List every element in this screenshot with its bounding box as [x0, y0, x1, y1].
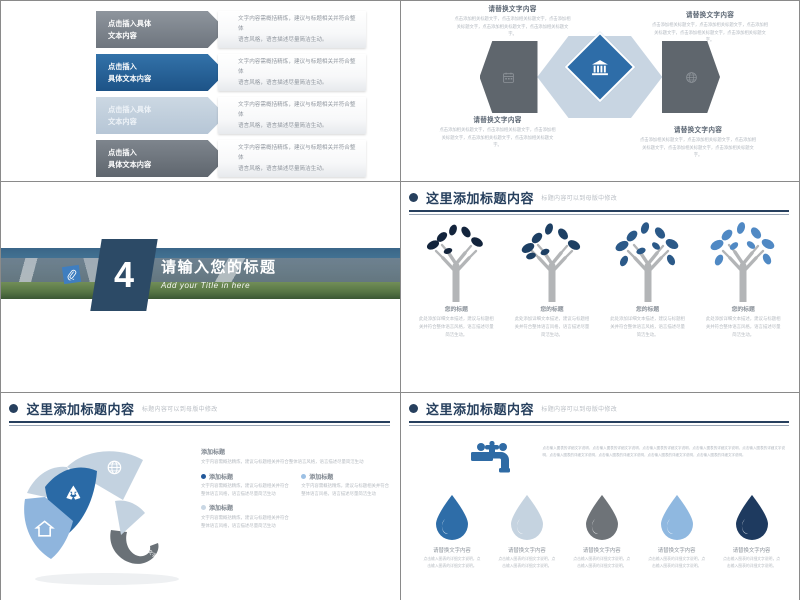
page-title: 这里添加标题内容 — [426, 402, 534, 417]
divider-primary — [9, 421, 390, 423]
arrow-label: 点击插入具体 文本内容 — [96, 104, 151, 126]
drop-body: 点击输入图表的详细文字说明，点击输入图表的详细文字说明。 — [422, 556, 482, 570]
umbrella-text-group: 添加标题 文字内容需概括精炼，建议与标题相关并符合整体语言风格，语言描述尽量简洁… — [201, 447, 392, 530]
chevron-label-heading: 请替换文字内容 — [439, 114, 557, 124]
section-title-group: 请输入您的标题 Add your Title in here — [161, 256, 277, 290]
calendar-icon — [502, 71, 515, 84]
tree-item[interactable]: 您的标题 此处添加详细文本描述，建议与标题相关并符合整体语言风格，语言描述尽量简… — [600, 220, 696, 339]
slide-header: 这里添加标题内容 标题内容可以到母版中修改 — [409, 399, 790, 426]
arrow-bar-row[interactable]: 点击插入具体 文本内容 文字内容需概括精炼，建议与标题相关并符合整体 语言风格，… — [96, 97, 366, 134]
chevron-label-body: 点击添加相关标题文字，点击添加相关标题文字，点击添加相关标题文字，点击添加相关标… — [651, 21, 769, 44]
drop-heading: 请替换文字内容 — [583, 546, 621, 554]
chevron-label-body: 点击添加相关标题文字，点击添加相关标题文字，点击添加相关标题文字，点击添加相关标… — [639, 136, 757, 159]
tree-icon — [611, 220, 685, 302]
umbrella-item-body: 文字内容需概括精炼，建议与标题相关并符合整体语言风格，语言描述尽量简洁生动 — [201, 482, 291, 498]
arrow-body-text: 文字内容需概括精炼，建议与标题相关并符合整体 语言风格，语言描述尽量简洁生动。 — [218, 14, 366, 45]
slide-paragraph: 点击输入图表的详细文字说明，点击输入图表的详细文字说明，点击输入图表的详细文字说… — [543, 445, 786, 459]
page-subtitle: 标题内容可以到母版中修改 — [541, 196, 617, 202]
tree-icon — [515, 220, 589, 302]
chevron-label-heading: 请替换文字内容 — [639, 124, 757, 134]
arrow-shape: 点击插入 具体文本内容 — [96, 140, 226, 177]
arrow-bar-row[interactable]: 点击插入 具体文本内容 文字内容需概括精炼，建议与标题相关并符合整体 语言风格，… — [96, 54, 366, 91]
umbrella-graphic[interactable]: 添加文字内容 — [7, 427, 202, 587]
arrow-body-panel: 文字内容需概括精炼，建议与标题相关并符合整体 语言风格，语言描述尽量简洁生动。 — [218, 97, 366, 134]
tree-icon — [706, 220, 780, 302]
page-title: 这里添加标题内容 — [426, 191, 534, 206]
chevron-right-shape[interactable] — [662, 41, 720, 113]
lead-block: 添加标题 文字内容需概括精炼，建议与标题相关并符合整体语言风格，语言描述尽量简洁… — [201, 447, 392, 466]
slide-header: 这里添加标题内容 标题内容可以到母版中修改 — [409, 188, 790, 215]
drop-heading: 请替换文字内容 — [658, 546, 696, 554]
page-title: 这里添加标题内容 — [26, 402, 134, 417]
bullet-dot-icon — [201, 505, 206, 510]
slide-thumbnail-trees[interactable]: 这里添加标题内容 标题内容可以到母版中修改 — [401, 182, 800, 392]
section-number: 4 — [114, 257, 134, 293]
slide-thumbnail-section-divider[interactable]: 4 请输入您的标题 Add your Title in here — [1, 182, 400, 392]
chevron-label: 请替换文字内容 点击添加相关标题文字，点击添加相关标题文字，点击添加相关标题文字… — [651, 9, 769, 44]
bullet-dot-icon — [201, 474, 206, 479]
water-drop-icon — [431, 493, 473, 543]
tree-item-body: 此处添加详细文本描述，建议与标题相关并符合整体语言风格，语言描述尽量简洁生动。 — [417, 315, 495, 339]
tree-item-heading: 您的标题 — [445, 304, 468, 313]
umbrella-item[interactable]: 添加标题 文字内容需概括精炼，建议与标题相关并符合整体语言风格，语言描述尽量简洁… — [201, 472, 291, 499]
chevron-label-body: 点击添加相关标题文字，点击添加相关标题文字，点击添加相关标题文字，点击添加相关标… — [439, 126, 557, 149]
chevron-left-shape[interactable] — [480, 41, 538, 113]
arrow-label: 点击插入 具体文本内容 — [96, 61, 151, 83]
paperclip-icon — [65, 268, 77, 280]
drop-heading: 请替换文字内容 — [508, 546, 546, 554]
water-drop-icon — [656, 493, 698, 543]
drop-item[interactable]: 请替换文字内容 点击输入图表的详细文字说明，点击输入图表的详细文字说明。 — [714, 493, 789, 570]
arrow-body-text: 文字内容需概括精炼，建议与标题相关并符合整体 语言风格，语言描述尽量简洁生动。 — [218, 100, 366, 131]
slide-header: 这里添加标题内容 标题内容可以到母版中修改 — [9, 399, 390, 426]
tree-icon — [419, 220, 493, 302]
umbrella-item-heading: 添加标题 — [309, 472, 333, 481]
arrow-label: 点击插入具体 文本内容 — [96, 18, 151, 40]
water-drop-icon — [731, 493, 773, 543]
drop-item[interactable]: 请替换文字内容 点击输入图表的详细文字说明，点击输入图表的详细文字说明。 — [489, 493, 564, 570]
arrow-label: 点击插入 具体文本内容 — [96, 147, 151, 169]
arrow-body-panel: 文字内容需概括精炼，建议与标题相关并符合整体 语言风格，语言描述尽量简洁生动。 — [218, 54, 366, 91]
umbrella-item-body: 文字内容需概括精炼，建议与标题相关并符合整体语言风格，语言描述尽量简洁生动 — [201, 514, 291, 530]
chevron-label-heading: 请替换文字内容 — [454, 3, 572, 13]
arrow-shape: 点击插入具体 文本内容 — [96, 11, 226, 48]
page-subtitle: 标题内容可以到母版中修改 — [541, 407, 617, 413]
chevron-label: 请替换文字内容 点击添加相关标题文字，点击添加相关标题文字，点击添加相关标题文字… — [639, 124, 757, 159]
tree-item[interactable]: 您的标题 此处添加详细文本描述，建议与标题相关并符合整体语言风格，语言描述尽量简… — [409, 220, 505, 339]
bullet-dot-icon — [301, 474, 306, 479]
divider-secondary — [409, 214, 790, 215]
arrow-shape: 点击插入 具体文本内容 — [96, 54, 226, 91]
water-drop-icon — [581, 493, 623, 543]
drop-heading: 请替换文字内容 — [733, 546, 771, 554]
tree-item-heading: 您的标题 — [636, 304, 659, 313]
tree-item[interactable]: 您的标题 此处添加详细文本描述，建议与标题相关并符合整体语言风格，语言描述尽量简… — [504, 220, 600, 339]
umbrella-item-heading: 添加标题 — [209, 503, 233, 512]
bullet-icon — [9, 404, 18, 413]
divider-primary — [409, 210, 790, 212]
chevron-label: 请替换文字内容 点击添加相关标题文字，点击添加相关标题文字，点击添加相关标题文字… — [454, 3, 572, 38]
chevron-label: 请替换文字内容 点击添加相关标题文字，点击添加相关标题文字，点击添加相关标题文字… — [439, 114, 557, 149]
arrow-body-text: 文字内容需概括精炼，建议与标题相关并符合整体 语言风格，语言描述尽量简洁生动。 — [218, 143, 366, 174]
bank-icon — [590, 58, 609, 77]
section-number-block: 4 — [90, 239, 157, 311]
faucet-icon — [471, 441, 523, 489]
drop-item[interactable]: 请替换文字内容 点击输入图表的详细文字说明，点击输入图表的详细文字说明。 — [415, 493, 490, 570]
tree-item-heading: 您的标题 — [732, 304, 755, 313]
slide-thumbnail-arrow-list[interactable]: 点击插入具体 文本内容 文字内容需概括精炼，建议与标题相关并符合整体 语言风格，… — [1, 1, 400, 181]
umbrella-shadow — [35, 573, 179, 585]
chevron-label-heading: 请替换文字内容 — [651, 9, 769, 19]
section-title-zh: 请输入您的标题 — [161, 256, 277, 277]
tree-item[interactable]: 您的标题 此处添加详细文本描述，建议与标题相关并符合整体语言风格，语言描述尽量简… — [695, 220, 791, 339]
umbrella-item-body: 文字内容需概括精炼，建议与标题相关并符合整体语言风格，语言描述尽量简洁生动 — [301, 482, 391, 498]
arrow-bar-row[interactable]: 点击插入具体 文本内容 文字内容需概括精炼，建议与标题相关并符合整体 语言风格，… — [96, 11, 366, 48]
arrow-bar-row[interactable]: 点击插入 具体文本内容 文字内容需概括精炼，建议与标题相关并符合整体 语言风格，… — [96, 140, 366, 177]
page-subtitle: 标题内容可以到母版中修改 — [142, 407, 218, 413]
bullet-icon — [409, 404, 418, 413]
drop-item[interactable]: 请替换文字内容 点击输入图表的详细文字说明，点击输入图表的详细文字说明。 — [564, 493, 639, 570]
umbrella-item[interactable]: 添加标题 文字内容需概括精炼，建议与标题相关并符合整体语言风格，语言描述尽量简洁… — [301, 472, 391, 499]
divider-secondary — [9, 425, 390, 426]
divider-secondary — [409, 425, 790, 426]
drop-body: 点击输入图表的详细文字说明，点击输入图表的详细文字说明。 — [572, 556, 632, 570]
lead-body: 文字内容需概括精炼，建议与标题相关并符合整体语言风格，语言描述尽量简洁生动 — [201, 458, 392, 466]
slide-thumbnail-grid: 点击插入具体 文本内容 文字内容需概括精炼，建议与标题相关并符合整体 语言风格，… — [0, 0, 800, 600]
drop-body: 点击输入图表的详细文字说明，点击输入图表的详细文字说明。 — [647, 556, 707, 570]
drop-list: 请替换文字内容 点击输入图表的详细文字说明，点击输入图表的详细文字说明。 请替换… — [415, 493, 790, 570]
tree-item-body: 此处添加详细文本描述，建议与标题相关并符合整体语言风格，语言描述尽量简洁生动。 — [513, 315, 591, 339]
umbrella-handle — [110, 530, 158, 564]
arrow-shape: 点击插入具体 文本内容 — [96, 97, 226, 134]
drop-heading: 请替换文字内容 — [433, 546, 471, 554]
slide-thumbnail-chevron-diagram[interactable]: 请替换文字内容 点击添加相关标题文字，点击添加相关标题文字，点击添加相关标题文字… — [401, 1, 800, 181]
chevron-label-body: 点击添加相关标题文字，点击添加相关标题文字，点击添加相关标题文字，点击添加相关标… — [454, 15, 572, 38]
drop-body: 点击输入图表的详细文字说明，点击输入图表的详细文字说明。 — [722, 556, 782, 570]
tree-item-heading: 您的标题 — [540, 304, 563, 313]
water-drop-icon — [506, 493, 548, 543]
divider-primary — [409, 421, 790, 423]
umbrella-item[interactable]: 添加标题 文字内容需概括精炼，建议与标题相关并符合整体语言风格，语言描述尽量简洁… — [201, 503, 291, 530]
drop-body: 点击输入图表的详细文字说明，点击输入图表的详细文字说明。 — [497, 556, 557, 570]
tree-item-body: 此处添加详细文本描述，建议与标题相关并符合整体语言风格，语言描述尽量简洁生动。 — [704, 315, 782, 339]
umbrella-item-heading: 添加标题 — [209, 472, 233, 481]
arrow-body-text: 文字内容需概括精炼，建议与标题相关并符合整体 语言风格，语言描述尽量简洁生动。 — [218, 57, 366, 88]
slide-thumbnail-faucet-drops[interactable]: 这里添加标题内容 标题内容可以到母版中修改 点击输入图表的详细文字说明，点击输入… — [401, 393, 800, 603]
umbrella-panel-light3 — [115, 501, 145, 536]
tree-item-body: 此处添加详细文本描述，建议与标题相关并符合整体语言风格，语言描述尽量简洁生动。 — [609, 315, 687, 339]
badge-paperclip[interactable] — [62, 265, 81, 284]
arrow-body-panel: 文字内容需概括精炼，建议与标题相关并符合整体 语言风格，语言描述尽量简洁生动。 — [218, 11, 366, 48]
bullet-icon — [409, 193, 418, 202]
globe-icon — [685, 71, 698, 84]
arrow-body-panel: 文字内容需概括精炼，建议与标题相关并符合整体 语言风格，语言描述尽量简洁生动。 — [218, 140, 366, 177]
tree-list: 您的标题 此处添加详细文本描述，建议与标题相关并符合整体语言风格，语言描述尽量简… — [409, 220, 792, 339]
slide-thumbnail-umbrella[interactable]: 这里添加标题内容 标题内容可以到母版中修改 — [1, 393, 400, 603]
lead-heading: 添加标题 — [201, 447, 392, 456]
arrow-bar-list: 点击插入具体 文本内容 文字内容需概括精炼，建议与标题相关并符合整体 语言风格，… — [96, 11, 366, 181]
section-title-en: Add your Title in here — [161, 281, 277, 290]
drop-item[interactable]: 请替换文字内容 点击输入图表的详细文字说明，点击输入图表的详细文字说明。 — [639, 493, 714, 570]
